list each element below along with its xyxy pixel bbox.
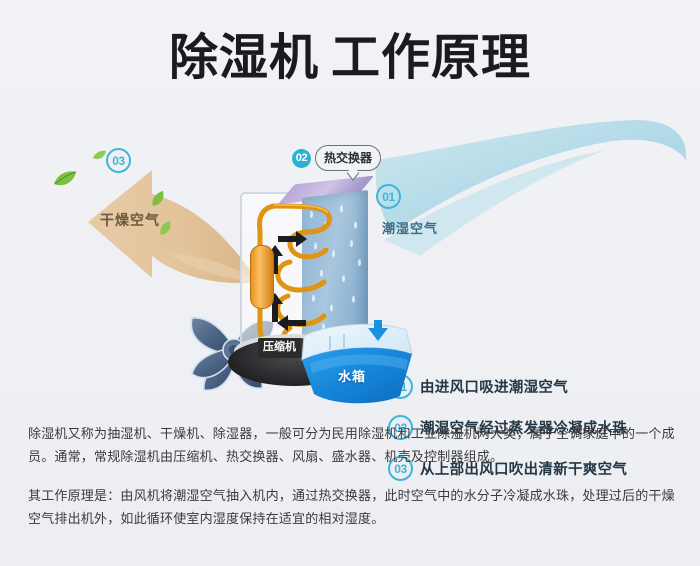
heat-exchanger-callout: 02 热交换器: [292, 145, 381, 171]
page-title: 除湿机工作原理: [0, 30, 700, 86]
title-accent-text: 工作原理: [331, 31, 531, 85]
badge-02-heat-exchanger: 02: [292, 149, 311, 168]
badge-01-humid-air: 01: [376, 184, 401, 209]
leaf-icon-3: [150, 190, 165, 207]
leaf-icon-1: [52, 170, 78, 188]
compressor-label: 压缩机: [258, 338, 301, 358]
step-text-01: 由进风口吸进潮湿空气: [420, 376, 568, 397]
description-paragraph-2: 其工作原理是：由风机将潮湿空气抽入机内，通过热交换器，此时空气中的水分子冷凝成水…: [28, 484, 676, 530]
water-tank-label: 水箱: [338, 366, 366, 385]
step-item-01: 01 由进风口吸进潮湿空气: [388, 374, 688, 399]
leaf-icon-2: [92, 150, 107, 161]
dry-air-label: 干燥空气: [100, 210, 160, 230]
heat-exchanger-label: 热交换器: [315, 145, 381, 171]
description-block: 除湿机又称为抽湿机、干燥机、除湿器，一般可分为民用除湿机和工业除湿机两大类，属于…: [28, 422, 676, 530]
water-tank: 水箱: [300, 320, 416, 408]
humid-air-label: 潮湿空气: [382, 218, 438, 237]
description-paragraph-1: 除湿机又称为抽湿机、干燥机、除湿器，一般可分为民用除湿机和工业除湿机两大类，属于…: [28, 422, 676, 468]
title-main-text: 除湿机: [169, 31, 319, 85]
page-root: 除湿机工作原理: [0, 0, 700, 566]
dehumidifier-diagram: 压缩机: [0, 118, 700, 403]
badge-03-dry-air: 03: [106, 148, 131, 173]
compressor-cylinder: [250, 245, 274, 309]
leaf-icon-4: [158, 220, 172, 236]
